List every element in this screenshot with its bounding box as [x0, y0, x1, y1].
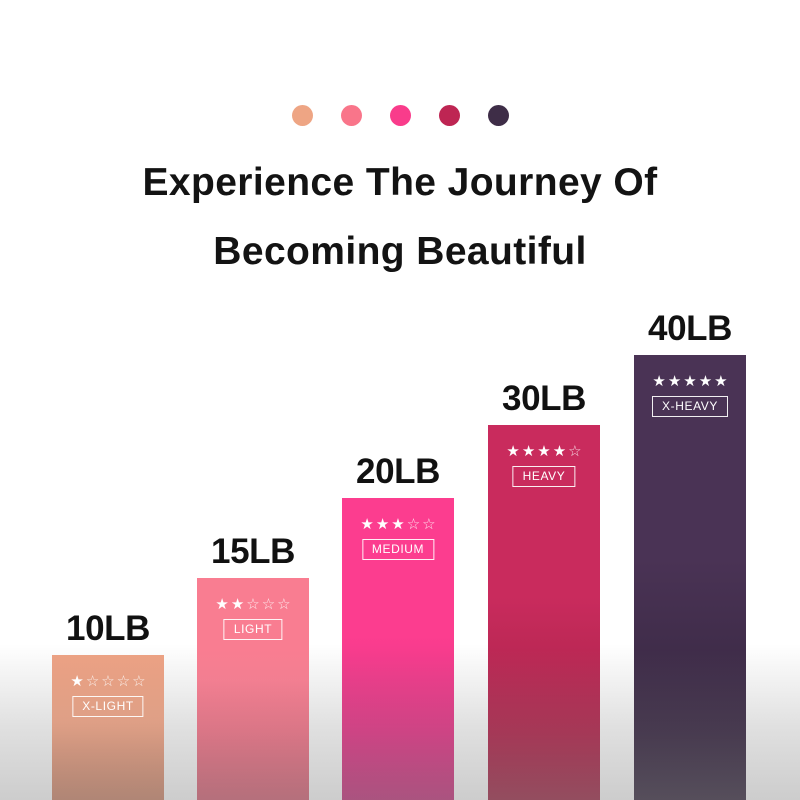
star-filled-icon: ★ — [699, 374, 712, 389]
star-filled-icon: ★ — [668, 374, 681, 389]
rating-stars: ★★★★★ — [652, 374, 727, 389]
rating-stars: ★★★★☆ — [506, 444, 581, 459]
bar-weight-label: 10LB — [66, 609, 150, 649]
bar-weight-label: 40LB — [648, 309, 732, 349]
star-filled-icon: ★ — [376, 517, 389, 532]
rating-stars: ★★☆☆☆ — [215, 597, 290, 612]
bar-bottom-shade — [342, 650, 454, 800]
dot-heavy — [439, 105, 460, 126]
star-empty-icon: ☆ — [246, 597, 259, 612]
star-filled-icon: ★ — [522, 444, 535, 459]
bar-bottom-shade — [488, 650, 600, 800]
bar-badge: ★★☆☆☆LIGHT — [215, 597, 290, 640]
bar-40lb[interactable] — [634, 355, 746, 800]
bar-group-medium: 20LB★★★☆☆MEDIUM — [342, 498, 454, 800]
star-filled-icon: ★ — [553, 444, 566, 459]
star-filled-icon: ★ — [683, 374, 696, 389]
bar-group-heavy: 30LB★★★★☆HEAVY — [488, 425, 600, 800]
bar-bottom-shade — [197, 650, 309, 800]
star-empty-icon: ☆ — [568, 444, 581, 459]
dot-x-heavy — [488, 105, 509, 126]
star-filled-icon: ★ — [537, 444, 550, 459]
bar-weight-label: 30LB — [502, 379, 586, 419]
page-title: Experience The Journey Of Becoming Beaut… — [0, 148, 800, 287]
bar-badge: ★★★★★X-HEAVY — [652, 374, 728, 417]
bar-badge: ★★★☆☆MEDIUM — [360, 517, 435, 560]
bar-group-x-heavy: 40LB★★★★★X-HEAVY — [634, 355, 746, 800]
bar-tag-label: X-HEAVY — [652, 396, 728, 417]
bar-weight-label: 20LB — [356, 452, 440, 492]
star-filled-icon: ★ — [714, 374, 727, 389]
star-empty-icon: ☆ — [262, 597, 275, 612]
star-empty-icon: ☆ — [422, 517, 435, 532]
headline-line-1: Experience The Journey Of — [0, 148, 800, 217]
bar-tag-label: MEDIUM — [362, 539, 434, 560]
product-poster: Experience The Journey Of Becoming Beaut… — [0, 0, 800, 800]
headline-line-2: Becoming Beautiful — [0, 217, 800, 286]
rating-stars: ★★★☆☆ — [360, 517, 435, 532]
bar-bottom-shade — [634, 650, 746, 800]
star-filled-icon: ★ — [215, 597, 228, 612]
star-empty-icon: ☆ — [132, 674, 145, 689]
star-filled-icon: ★ — [360, 517, 373, 532]
bar-tag-label: X-LIGHT — [72, 696, 144, 717]
bar-tag-label: HEAVY — [513, 466, 576, 487]
star-empty-icon: ☆ — [407, 517, 420, 532]
bar-group-light: 15LB★★☆☆☆LIGHT — [197, 578, 309, 800]
bar-tag-label: LIGHT — [224, 619, 282, 640]
star-filled-icon: ★ — [506, 444, 519, 459]
bar-group-x-light: 10LB★☆☆☆☆X-LIGHT — [52, 655, 164, 800]
dot-light — [341, 105, 362, 126]
star-empty-icon: ☆ — [86, 674, 99, 689]
dot-x-light — [292, 105, 313, 126]
star-filled-icon: ★ — [652, 374, 665, 389]
star-filled-icon: ★ — [70, 674, 83, 689]
bar-badge: ★☆☆☆☆X-LIGHT — [70, 674, 145, 717]
dot-medium — [390, 105, 411, 126]
rating-stars: ★☆☆☆☆ — [70, 674, 145, 689]
star-empty-icon: ☆ — [277, 597, 290, 612]
star-filled-icon: ★ — [231, 597, 244, 612]
color-swatch-dots — [0, 105, 800, 126]
star-empty-icon: ☆ — [117, 674, 130, 689]
star-empty-icon: ☆ — [101, 674, 114, 689]
star-filled-icon: ★ — [391, 517, 404, 532]
bar-badge: ★★★★☆HEAVY — [506, 444, 581, 487]
bar-weight-label: 15LB — [211, 532, 295, 572]
